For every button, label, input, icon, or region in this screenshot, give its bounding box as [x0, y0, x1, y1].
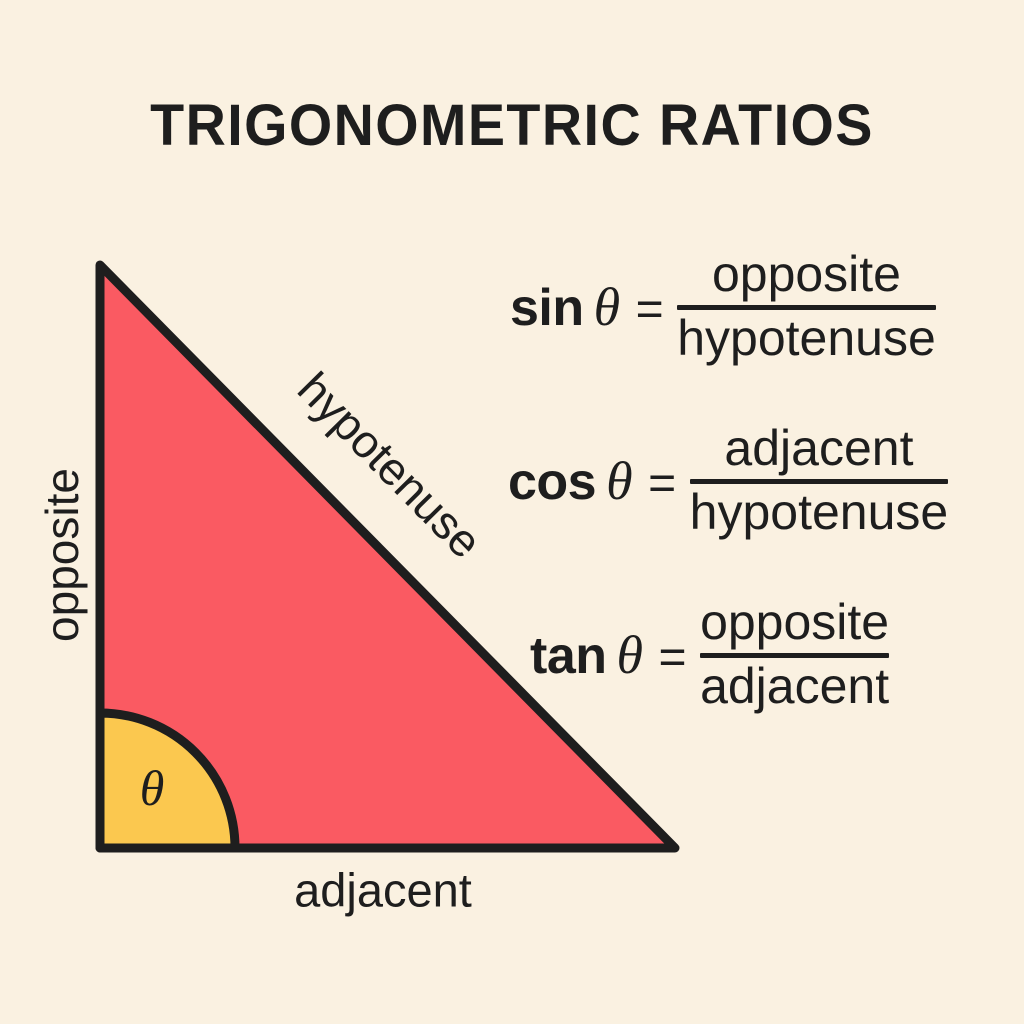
formula-cos-numerator: adjacent — [724, 422, 913, 475]
formula-sin-function: sin — [510, 278, 584, 338]
formula-tan-denominator: adjacent — [700, 660, 889, 713]
formula-cos: cos θ = adjacent hypotenuse — [508, 422, 948, 539]
formula-cos-angle: θ — [606, 450, 632, 512]
formula-sin-angle: θ — [594, 276, 620, 338]
formula-tan-equals: = — [659, 630, 687, 685]
formula-tan-function: tan — [530, 626, 607, 686]
formula-cos-denominator: hypotenuse — [690, 486, 949, 539]
formula-sin-fraction: opposite hypotenuse — [677, 248, 936, 365]
formula-sin-denominator: hypotenuse — [677, 312, 936, 365]
formula-list: sin θ = opposite hypotenuse cos θ = adja… — [495, 240, 965, 750]
formula-tan-numerator: opposite — [700, 596, 889, 649]
formula-sin-equals: = — [636, 282, 664, 337]
formula-sin-lhs: sin θ = — [510, 276, 677, 338]
label-angle-theta: θ — [140, 759, 165, 817]
formula-cos-function: cos — [508, 452, 596, 512]
formula-tan-fraction: opposite adjacent — [700, 596, 889, 713]
formula-tan-lhs: tan θ = — [530, 624, 700, 686]
formula-tan-angle: θ — [617, 624, 643, 686]
formula-cos-equals: = — [648, 456, 676, 511]
formula-tan: tan θ = opposite adjacent — [530, 596, 889, 713]
label-adjacent: adjacent — [294, 863, 472, 918]
label-opposite: opposite — [35, 468, 89, 642]
formula-cos-lhs: cos θ = — [508, 450, 690, 512]
formula-sin: sin θ = opposite hypotenuse — [510, 248, 936, 365]
formula-cos-fraction: adjacent hypotenuse — [690, 422, 949, 539]
trigonometric-ratios-poster: TRIGONOMETRIC RATIOS opposite hypotenuse… — [0, 0, 1024, 1024]
formula-sin-numerator: opposite — [712, 248, 901, 301]
